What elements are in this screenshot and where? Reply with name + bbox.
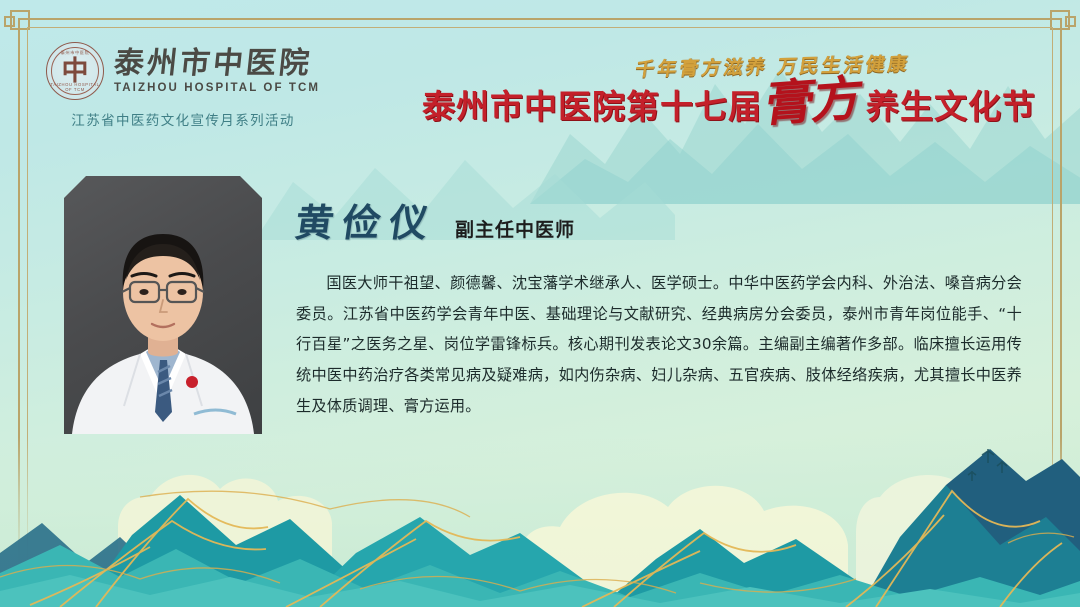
hospital-logo-block: 泰州市中医院 中 TAIZHOU HOSPITAL OF TCM 泰州市中医院 … — [46, 42, 320, 129]
hospital-name-cn: 泰州市中医院 — [112, 48, 321, 80]
portrait-illustration — [64, 176, 262, 434]
hospital-seal-icon: 泰州市中医院 中 TAIZHOU HOSPITAL OF TCM — [46, 42, 104, 100]
hospital-name-group: 泰州市中医院 TAIZHOU HOSPITAL OF TCM — [114, 48, 320, 95]
frame-bottom-fade — [0, 437, 1080, 607]
festival-title-part1: 泰州市中医院第十七届 — [422, 90, 762, 123]
frame-corner-top-left-inner — [4, 16, 15, 27]
campaign-subtitle: 江苏省中医药文化宣传月系列活动 — [71, 109, 295, 129]
frame-corner-top-left — [10, 10, 30, 30]
doctor-biography: 国医大师干祖望、颜德馨、沈宝藩学术继承人、医学硕士。中华中医药学会内科、外治法、… — [296, 268, 1022, 422]
festival-title-part2-calligraphy: 膏方 — [762, 78, 863, 126]
frame-corner-top-right — [1050, 10, 1070, 30]
hospital-name-en: TAIZHOU HOSPITAL OF TCM — [114, 82, 320, 94]
doctor-name-row: 黄俭仪 副主任中医师 — [296, 192, 1022, 247]
festival-title-part3: 养生文化节 — [866, 90, 1036, 123]
festival-title-block: 千年膏方滋养 万民生活健康 泰州市中医院第十七届 膏方 养生文化节 — [422, 52, 1036, 123]
festival-main-title: 泰州市中医院第十七届 膏方 养生文化节 — [422, 81, 1036, 123]
doctor-portrait-photo — [64, 176, 262, 434]
logo-row: 泰州市中医院 中 TAIZHOU HOSPITAL OF TCM 泰州市中医院 … — [46, 42, 320, 100]
frame-corner-bottom-right — [1050, 577, 1070, 597]
doctor-professional-title: 副主任中医师 — [455, 215, 575, 242]
frame-corner-top-right-inner — [1065, 16, 1076, 27]
frame-corner-bottom-left — [10, 577, 30, 597]
doctor-name: 黄俭仪 — [292, 192, 441, 247]
doctor-info-panel: 黄俭仪 副主任中医师 国医大师干祖望、颜德馨、沈宝藩学术继承人、医学硕士。中华中… — [296, 192, 1022, 422]
seal-arc-bottom-text: TAIZHOU HOSPITAL OF TCM — [47, 82, 103, 92]
poster-root: 泰州市中医院 中 TAIZHOU HOSPITAL OF TCM 泰州市中医院 … — [0, 0, 1080, 607]
